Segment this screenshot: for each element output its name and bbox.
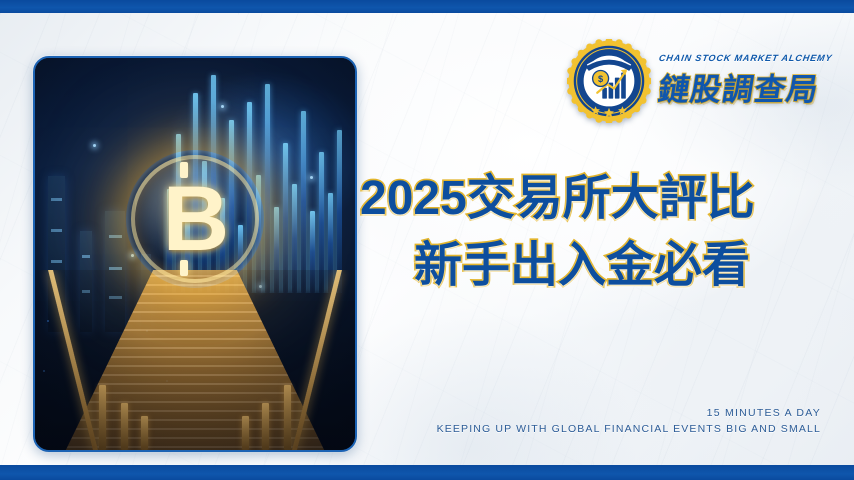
headline-block: 2025交易所大評比 新手出入金必看: [360, 171, 830, 294]
tagline-line-1: 15 MINUTES A DAY: [437, 407, 821, 419]
light-particle: [93, 144, 96, 147]
brand-chinese-name: 鏈股調查局: [655, 64, 822, 109]
brand-wordmark: CHAIN STOCK MARKET ALCHEMY 鏈股調查局: [659, 53, 832, 109]
bridge-post: [284, 385, 291, 450]
bitcoin-coin-icon: B: [126, 150, 264, 288]
coin-symbol: B: [126, 150, 264, 288]
svg-text:$: $: [598, 74, 603, 84]
light-particle: [310, 176, 313, 179]
marble-background: B: [0, 13, 854, 465]
golden-bridge: [35, 270, 355, 450]
hero-scene: B: [35, 58, 355, 450]
bottom-brand-bar: [0, 465, 854, 480]
seal-badge-icon: $: [567, 39, 651, 123]
hero-image-card: B: [33, 56, 357, 452]
tagline-line-2: KEEPING UP WITH GLOBAL FINANCIAL EVENTS …: [437, 423, 821, 435]
bridge-post: [121, 403, 128, 450]
brand-logo[interactable]: $ CHAIN STOCK MARKET ALCHEMY 鏈股調查局: [567, 39, 832, 123]
brand-english-name: CHAIN STOCK MARKET ALCHEMY: [658, 53, 833, 63]
poster-canvas: B: [0, 0, 854, 480]
bridge-post: [242, 416, 249, 450]
bridge-post: [141, 416, 148, 450]
headline-line-2: 新手出入金必看: [360, 238, 830, 295]
top-brand-bar: [0, 0, 854, 13]
tagline-block: 15 MINUTES A DAY KEEPING UP WITH GLOBAL …: [437, 407, 821, 435]
bridge-post: [99, 385, 106, 450]
light-particle: [221, 105, 224, 108]
headline-line-1: 2025交易所大評比: [360, 171, 830, 228]
bridge-post: [262, 403, 269, 450]
